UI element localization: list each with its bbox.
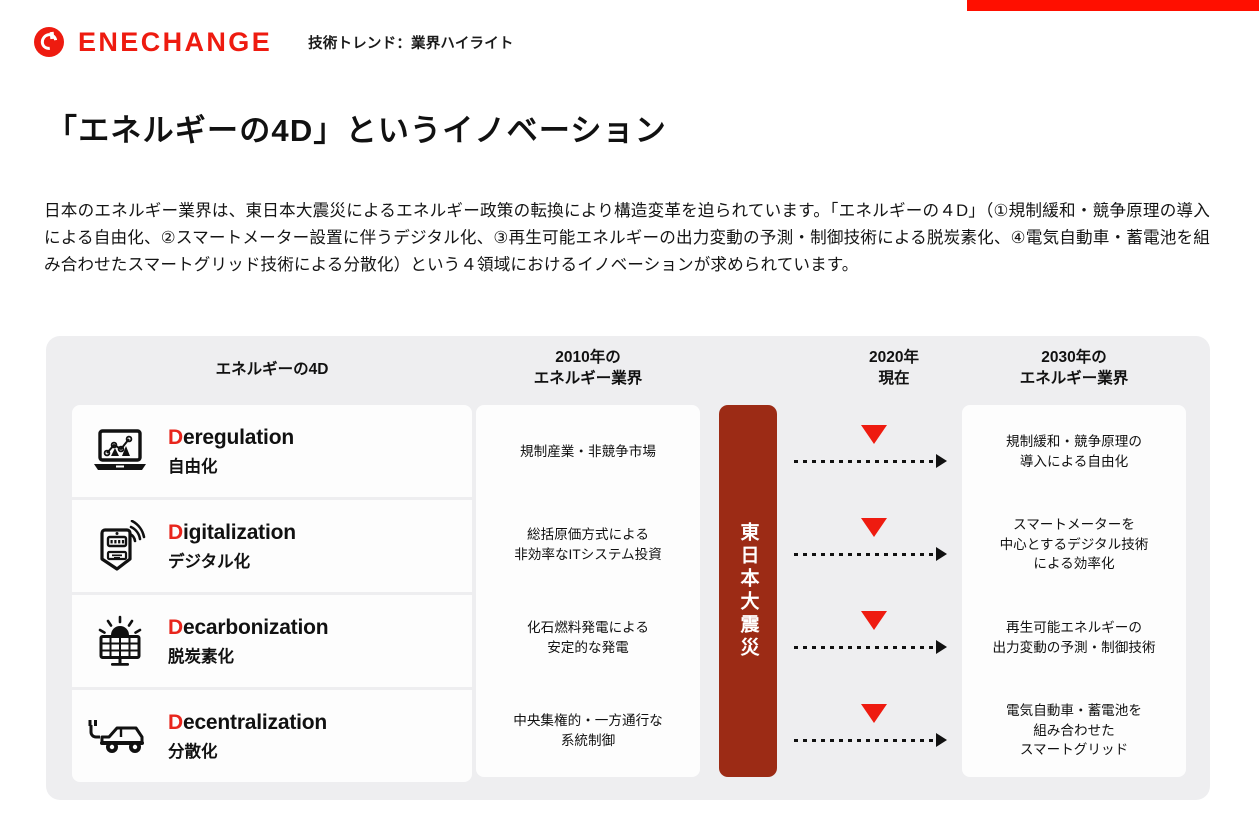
slide-page: ENECHANGE 技術トレンド：業界ハイライト 「エネルギーの4D」というイノ… [0,0,1259,816]
smart-meter-wifi-icon [72,520,168,572]
column-header-2030-line2: エネルギー業界 [962,369,1186,390]
cell-2010: 総括原価方式による 非効率なITシステム投資 [476,498,700,591]
cell-line: 非効率なITシステム投資 [514,545,662,565]
cell-line: 導入による自由化 [1006,452,1142,472]
arrow-row [792,591,956,684]
down-triangle-icon [861,704,887,723]
header: ENECHANGE 技術トレンド：業界ハイライト [34,27,514,57]
solar-panel-sun-icon [72,615,168,667]
four-d-card-text: Decarbonization 脱炭素化 [168,615,472,666]
cell-line: 化石燃料発電による [527,618,649,638]
arrow-head-icon [936,454,947,468]
four-d-card-japanese: 脱炭素化 [168,643,472,667]
cell-2030: 規制緩和・競争原理の 導入による自由化 [962,405,1186,498]
four-d-card[interactable]: Decentralization 分散化 [72,690,472,782]
cell-line: による効率化 [1000,554,1149,574]
column-headers: エネルギーの4D 2010年の エネルギー業界 2020年 現在 2030年の … [46,346,1210,402]
arrow-head-icon [936,640,947,654]
cell-line: スマートグリッド [1006,740,1142,760]
four-d-card-english: Decentralization [168,710,472,735]
laptop-chart-icon [72,428,168,474]
cell-line: 電気自動車・蓄電池を [1006,701,1142,721]
enechange-circle-logo-icon [34,27,64,57]
arrow-head-icon [936,547,947,561]
dotted-line [794,739,934,742]
arrow-row [792,498,956,591]
cell-line: 出力変動の予測・制御技術 [992,638,1155,658]
column-header-2010: 2010年の エネルギー業界 [476,348,700,390]
column-header-2010-line1: 2010年の [476,348,700,369]
column-header-2030: 2030年の エネルギー業界 [962,348,1186,390]
four-d-card-japanese: 自由化 [168,453,472,477]
transition-arrows [792,405,956,777]
arrow-row [792,405,956,498]
diagram-panel: エネルギーの4D 2010年の エネルギー業界 2020年 現在 2030年の … [46,336,1210,800]
cell-line: 再生可能エネルギーの [992,618,1155,638]
arrow-row [792,684,956,777]
column-2010-cells: 規制産業・非競争市場 総括原価方式による 非効率なITシステム投資 化石燃料発電… [476,405,700,777]
cell-2010: 規制産業・非競争市場 [476,405,700,498]
cell-2030: スマートメーターを 中心とするデジタル技術 による効率化 [962,498,1186,591]
four-d-card-english: Decarbonization [168,615,472,640]
dotted-line [794,460,934,463]
cell-2010: 化石燃料発電による 安定的な発電 [476,591,700,684]
cell-line: スマートメーターを [1000,515,1149,535]
cell-line: 中心とするデジタル技術 [1000,535,1149,555]
cell-line: 規制産業・非競争市場 [520,442,656,462]
dotted-line [794,646,934,649]
four-d-card-text: Deregulation 自由化 [168,425,472,476]
electric-car-plug-icon [72,715,168,757]
cell-2030: 電気自動車・蓄電池を 組み合わせた スマートグリッド [962,684,1186,777]
four-d-card-english: Deregulation [168,425,472,450]
four-d-card-text: Digitalization デジタル化 [168,520,472,571]
column-header-four-d: エネルギーの4D [72,360,472,381]
arrow-head-icon [936,733,947,747]
four-d-card-japanese: デジタル化 [168,548,472,572]
down-triangle-icon [861,611,887,630]
down-triangle-icon [861,425,887,444]
four-d-card-japanese: 分散化 [168,738,472,762]
cell-line: 総括原価方式による [514,525,662,545]
column-header-2030-line1: 2030年の [962,348,1186,369]
cell-line: 安定的な発電 [527,638,649,658]
logo-wordmark: ENECHANGE [78,29,272,56]
great-east-japan-earthquake-bar: 東日本大震災 [719,405,777,777]
dotted-line [794,553,934,556]
column-2030-cells: 規制緩和・競争原理の 導入による自由化 スマートメーターを 中心とするデジタル技… [962,405,1186,777]
cell-line: 規制緩和・競争原理の [1006,432,1142,452]
cell-2010: 中央集権的・一方通行な 系統制御 [476,684,700,777]
lead-paragraph: 日本のエネルギー業界は、東日本大震災によるエネルギー政策の転換により構造変革を迫… [44,198,1210,279]
column-header-2010-line2: エネルギー業界 [476,369,700,390]
top-accent-bar [967,0,1259,11]
four-d-card[interactable]: Decarbonization 脱炭素化 [72,595,472,687]
four-d-card[interactable]: Deregulation 自由化 [72,405,472,497]
cell-line: 系統制御 [513,731,663,751]
page-title: 「エネルギーの4D」というイノベーション [46,105,667,150]
header-subtitle: 技術トレンド：業界ハイライト [308,32,514,53]
cell-line: 組み合わせた [1006,721,1142,741]
four-d-card-list: Deregulation 自由化 [72,405,472,782]
cell-2030: 再生可能エネルギーの 出力変動の予測・制御技術 [962,591,1186,684]
four-d-card-text: Decentralization 分散化 [168,710,472,761]
four-d-card[interactable]: Digitalization デジタル化 [72,500,472,592]
down-triangle-icon [861,518,887,537]
quake-label: 東日本大震災 [739,522,758,660]
cell-line: 中央集権的・一方通行な [513,711,663,731]
four-d-card-english: Digitalization [168,520,472,545]
